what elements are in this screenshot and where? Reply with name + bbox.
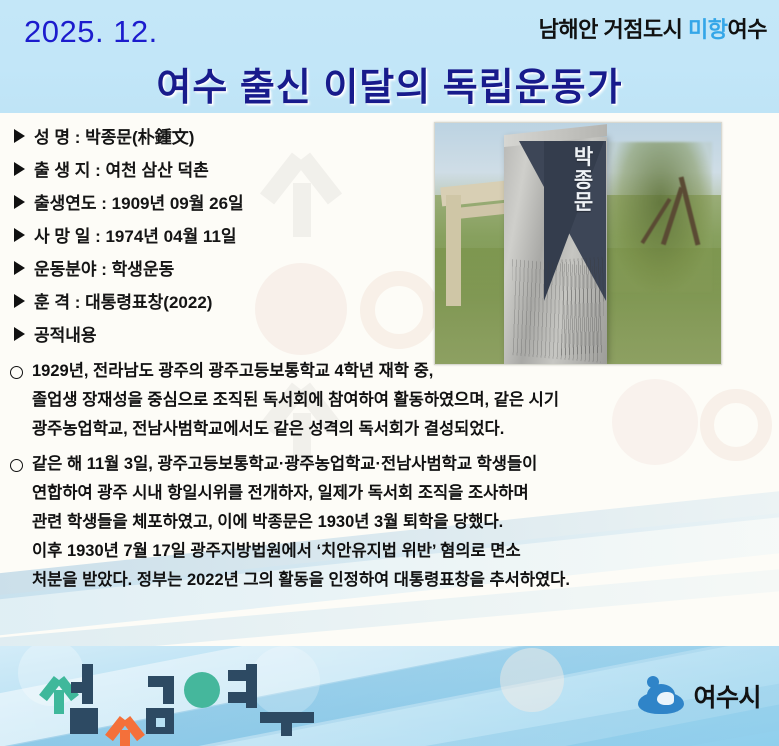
paragraph-2-text-5: 처분을 받았다. 정부는 2022년 그의 활동을 인정하여 대통령표창을 추서… <box>32 572 570 589</box>
photo-monument-inscription-right <box>561 256 604 355</box>
fact-label-birthplace: 출 생 지 : 여천 삼산 덕촌 <box>34 156 209 181</box>
fact-row-deathdate: 사 망 일 : 1974년 04월 11일 <box>8 218 438 251</box>
logo-glyph-giyeok-leg <box>163 676 174 704</box>
city-name-label: 여수시 <box>693 678 761 714</box>
logo-glyph-u-stem <box>281 712 292 736</box>
fact-row-field: 운동분야 : 학생운동 <box>8 251 438 284</box>
circle-bullet-icon <box>10 459 23 472</box>
paragraph-2: 같은 해 11월 3일, 광주고등보통학교·광주농업학교·전남사범학교 학생들이… <box>6 456 776 601</box>
bullet-spacer <box>10 488 23 501</box>
paragraph-1-text-1: 1929년, 전라남도 광주의 광주고등보통학교 4학년 재학 중, <box>32 363 433 380</box>
logo-glyph-siot-orange <box>104 714 146 746</box>
bullet-spacer <box>10 575 23 588</box>
paragraph-1-text-2: 졸업생 장재성을 중심으로 조직된 독서회에 참여하여 활동하였으며, 같은 시… <box>32 392 559 409</box>
logo-glyph-yeo-vertical <box>246 664 257 708</box>
fact-label-name: 성 명 : 박종문(朴鍾文) <box>34 123 194 148</box>
fact-row-award: 훈 격 : 대통령표창(2022) <box>8 284 438 317</box>
paragraph-1-line-1: 1929년, 전라남도 광주의 광주고등보통학교 4학년 재학 중, <box>6 363 776 392</box>
triangle-bullet-icon <box>14 129 25 143</box>
triangle-bullet-icon <box>14 162 25 176</box>
paragraph-1: 1929년, 전라남도 광주의 광주고등보통학교 4학년 재학 중, 졸업생 장… <box>6 363 776 450</box>
fact-label-field: 운동분야 : 학생운동 <box>34 255 174 280</box>
logo-glyph-ieung <box>184 672 220 708</box>
paragraph-2-text-2: 연합하여 광주 시내 항일시위를 전개하자, 일제가 독서회 조직을 조사하며 <box>32 485 529 502</box>
fact-label-achievements: 공적내용 <box>34 321 97 346</box>
triangle-bullet-icon <box>14 294 25 308</box>
fact-list: 성 명 : 박종문(朴鍾文) 출 생 지 : 여천 삼산 덕촌 출생연도 : 1… <box>8 119 438 350</box>
fact-row-birthplace: 출 생 지 : 여천 삼산 덕촌 <box>8 152 438 185</box>
paragraph-2-text-3: 관련 학생들을 체포하였고, 이에 박종문은 1930년 3월 퇴학을 당했다. <box>32 514 503 531</box>
city-brand-slogan: 남해안 거점도시 미항여수 <box>539 12 767 44</box>
fact-label-award: 훈 격 : 대통령표창(2022) <box>34 288 212 313</box>
footer-band: 여수시 <box>0 646 779 746</box>
photo-tree <box>609 142 712 291</box>
fact-row-birthdate: 출생연도 : 1909년 09월 26일 <box>8 185 438 218</box>
body-area: 성 명 : 박종문(朴鍾文) 출 생 지 : 여천 삼산 덕촌 출생연도 : 1… <box>0 113 779 646</box>
circle-bullet-icon <box>10 366 23 379</box>
paragraph-2-line-5: 처분을 받았다. 정부는 2022년 그의 활동을 인정하여 대통령표창을 추서… <box>6 572 776 601</box>
brand-slogan-prefix: 남해안 거점도시 <box>539 17 688 42</box>
logo-glyph-eo-vertical <box>82 664 93 704</box>
monument-photo: 박종문 <box>434 122 722 365</box>
fact-label-birthdate: 출생연도 : 1909년 09월 26일 <box>34 189 244 214</box>
paragraph-2-line-2: 연합하여 광주 시내 항일시위를 전개하자, 일제가 독서회 조직을 조사하며 <box>6 485 776 514</box>
paragraph-1-line-2: 졸업생 장재성을 중심으로 조직된 독서회에 참여하여 활동하였으며, 같은 시… <box>6 392 776 421</box>
bullet-spacer <box>10 424 23 437</box>
paragraph-1-line-3: 광주농업학교, 전남사범학교에서도 같은 성격의 독서회가 결성되었다. <box>6 421 776 450</box>
symbol-highlight-shape <box>657 692 674 705</box>
triangle-bullet-icon <box>14 195 25 209</box>
logo-glyph-yeo-bar-1 <box>228 670 247 681</box>
bullet-spacer <box>10 546 23 559</box>
brand-slogan-highlight: 미항 <box>688 17 727 42</box>
achievement-paragraphs: 1929년, 전라남도 광주의 광주고등보통학교 4학년 재학 중, 졸업생 장… <box>6 363 776 607</box>
paragraph-2-text-4: 이후 1930년 7월 17일 광주지방법원에서 ‘치안유지법 위반’ 혐의로 … <box>32 543 521 560</box>
paragraph-2-line-1: 같은 해 11월 3일, 광주고등보통학교·광주농업학교·전남사범학교 학생들이 <box>6 456 776 485</box>
triangle-bullet-icon <box>14 327 25 341</box>
logo-glyph-yeo-bar-2 <box>228 692 247 703</box>
paragraph-2-line-4: 이후 1930년 7월 17일 광주지방법원에서 ‘치안유지법 위반’ 혐의로 … <box>6 543 776 572</box>
issue-date: 2025. 12. <box>24 14 158 50</box>
page-title: 여수 출신 이달의 독립운동가 <box>0 56 779 111</box>
header-band: 2025. 12. 남해안 거점도시 미항여수 여수 출신 이달의 독립운동가 <box>0 0 779 113</box>
logo-glyph-eo-horizontal <box>71 682 83 693</box>
paragraph-2-text-1: 같은 해 11월 3일, 광주고등보통학교·광주농업학교·전남사범학교 학생들이 <box>32 456 537 473</box>
logo-glyph-mieum-1 <box>70 708 98 734</box>
paragraph-2-line-3: 관련 학생들을 체포하였고, 이에 박종문은 1930년 3월 퇴학을 당했다. <box>6 514 776 543</box>
photo-monument-name-text: 박종문 <box>567 147 601 215</box>
triangle-bullet-icon <box>14 261 25 275</box>
brand-slogan-suffix: 여수 <box>728 17 767 42</box>
fact-label-deathdate: 사 망 일 : 1974년 04월 11일 <box>34 222 237 247</box>
bullet-spacer <box>10 395 23 408</box>
logo-glyph-mieum-2-hole <box>156 718 165 727</box>
paragraph-1-text-3: 광주농업학교, 전남사범학교에서도 같은 성격의 독서회가 결성되었다. <box>32 421 504 438</box>
yeosu-city-logo: 여수시 <box>638 676 761 716</box>
seomseom-yeosu-logo <box>38 656 368 734</box>
bullet-spacer <box>10 517 23 530</box>
triangle-bullet-icon <box>14 228 25 242</box>
photo-fence-post-left <box>446 195 460 306</box>
poster-root: 2025. 12. 남해안 거점도시 미항여수 여수 출신 이달의 독립운동가 <box>0 0 779 746</box>
fact-row-achievements-heading: 공적내용 <box>8 317 438 350</box>
fact-row-name: 성 명 : 박종문(朴鍾文) <box>8 119 438 152</box>
yeosu-city-symbol-icon <box>638 676 684 716</box>
